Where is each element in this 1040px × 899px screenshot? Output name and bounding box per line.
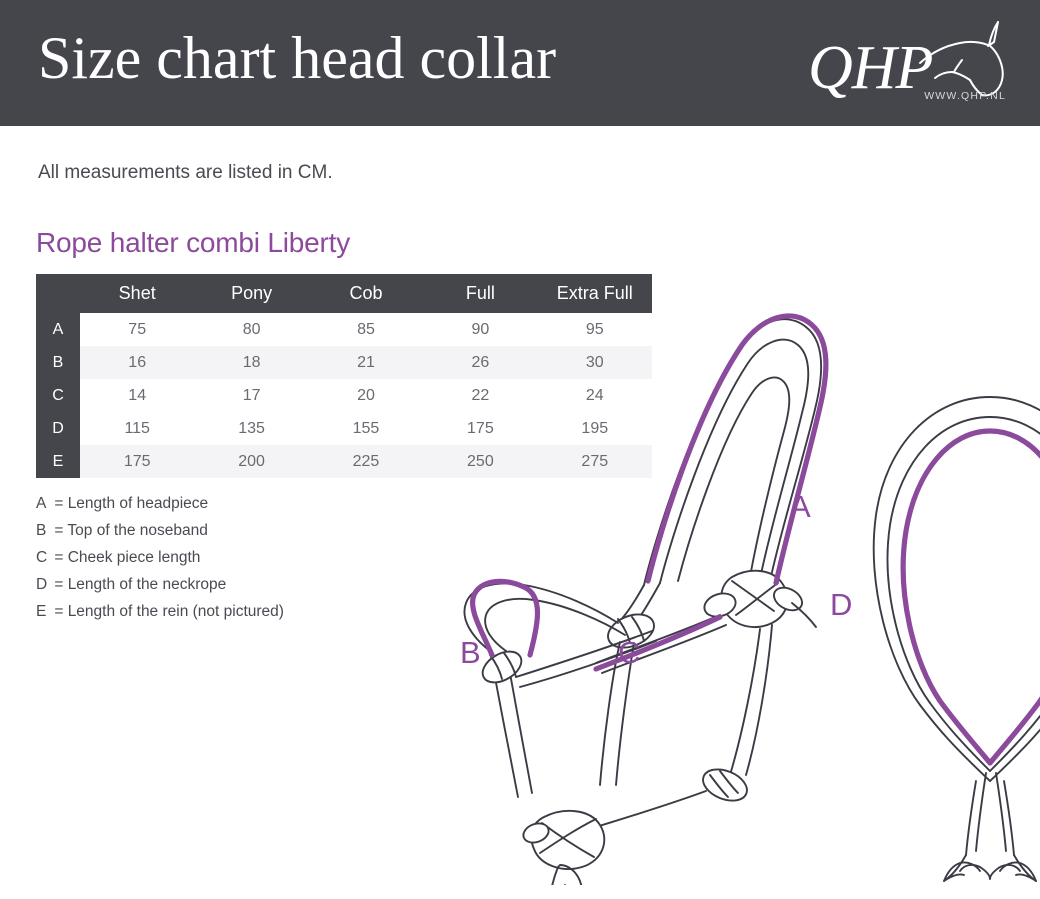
dim-marker-d: D <box>830 587 852 622</box>
dim-marker-a: A <box>790 489 811 524</box>
svg-text:QHP: QHP <box>808 34 933 102</box>
cell-e-cob: 225 <box>309 445 423 478</box>
legend-equals: = <box>54 549 63 566</box>
rope-knot <box>698 763 751 806</box>
legend-item-c: C = Cheek piece length <box>36 544 284 571</box>
page-title: Size chart head collar <box>38 18 556 98</box>
legend-key-a: A <box>36 490 50 517</box>
legend-item-a: A = Length of headpiece <box>36 490 284 517</box>
row-label-c: C <box>36 379 80 412</box>
measurement-unit-note: All measurements are listed in CM. <box>38 162 333 184</box>
legend-equals: = <box>54 576 63 593</box>
legend-equals: = <box>54 522 63 539</box>
legend-item-e: E = Length of the rein (not pictured) <box>36 598 284 625</box>
rope-knot-decorative <box>521 811 605 869</box>
legend-item-b: B = Top of the noseband <box>36 517 284 544</box>
measurement-legend: A = Length of headpiece B = Top of the n… <box>36 490 284 625</box>
column-header-shet: Shet <box>80 274 194 313</box>
cell-d-cob: 155 <box>309 412 423 445</box>
table-corner-cell <box>36 274 80 313</box>
legend-text-c: Cheek piece length <box>68 549 201 566</box>
cell-c-cob: 20 <box>309 379 423 412</box>
legend-item-d: D = Length of the neckrope <box>36 571 284 598</box>
cell-a-cob: 85 <box>309 313 423 346</box>
legend-equals: = <box>54 603 63 620</box>
cell-c-shet: 14 <box>80 379 194 412</box>
column-header-cob: Cob <box>309 274 423 313</box>
row-label-d: D <box>36 412 80 445</box>
page-header: Size chart head collar QHP WWW.QHP.NL <box>0 0 1040 126</box>
legend-text-b: Top of the noseband <box>67 522 207 539</box>
row-label-b: B <box>36 346 80 379</box>
legend-key-e: E <box>36 598 50 625</box>
product-heading: Rope halter combi Liberty <box>36 227 350 259</box>
measure-a-line <box>648 316 826 583</box>
cell-a-pony: 80 <box>194 313 308 346</box>
cell-a-shet: 75 <box>80 313 194 346</box>
legend-text-e: Length of the rein (not pictured) <box>68 603 284 620</box>
legend-key-b: B <box>36 517 50 544</box>
legend-equals: = <box>54 495 63 512</box>
measure-d-line <box>903 431 1040 763</box>
legend-text-d: Length of the neckrope <box>68 576 227 593</box>
dim-marker-c: C <box>618 635 640 670</box>
rope-knot <box>477 645 526 689</box>
dim-marker-b: B <box>460 635 481 670</box>
rope-halter-illustration: A B C <box>460 316 826 885</box>
brand-url-text: WWW.QHP.NL <box>924 90 1006 102</box>
cell-b-shet: 16 <box>80 346 194 379</box>
legend-text-a: Length of headpiece <box>68 495 208 512</box>
halter-diagram: A B C D <box>420 285 1040 885</box>
cell-d-pony: 135 <box>194 412 308 445</box>
cell-e-pony: 200 <box>194 445 308 478</box>
cell-c-pony: 17 <box>194 379 308 412</box>
cell-b-pony: 18 <box>194 346 308 379</box>
row-label-a: A <box>36 313 80 346</box>
cell-b-cob: 21 <box>309 346 423 379</box>
column-header-pony: Pony <box>194 274 308 313</box>
legend-key-c: C <box>36 544 50 571</box>
row-label-e: E <box>36 445 80 478</box>
neckrope-illustration: D <box>830 397 1040 881</box>
cell-d-shet: 115 <box>80 412 194 445</box>
legend-key-d: D <box>36 571 50 598</box>
cell-e-shet: 175 <box>80 445 194 478</box>
